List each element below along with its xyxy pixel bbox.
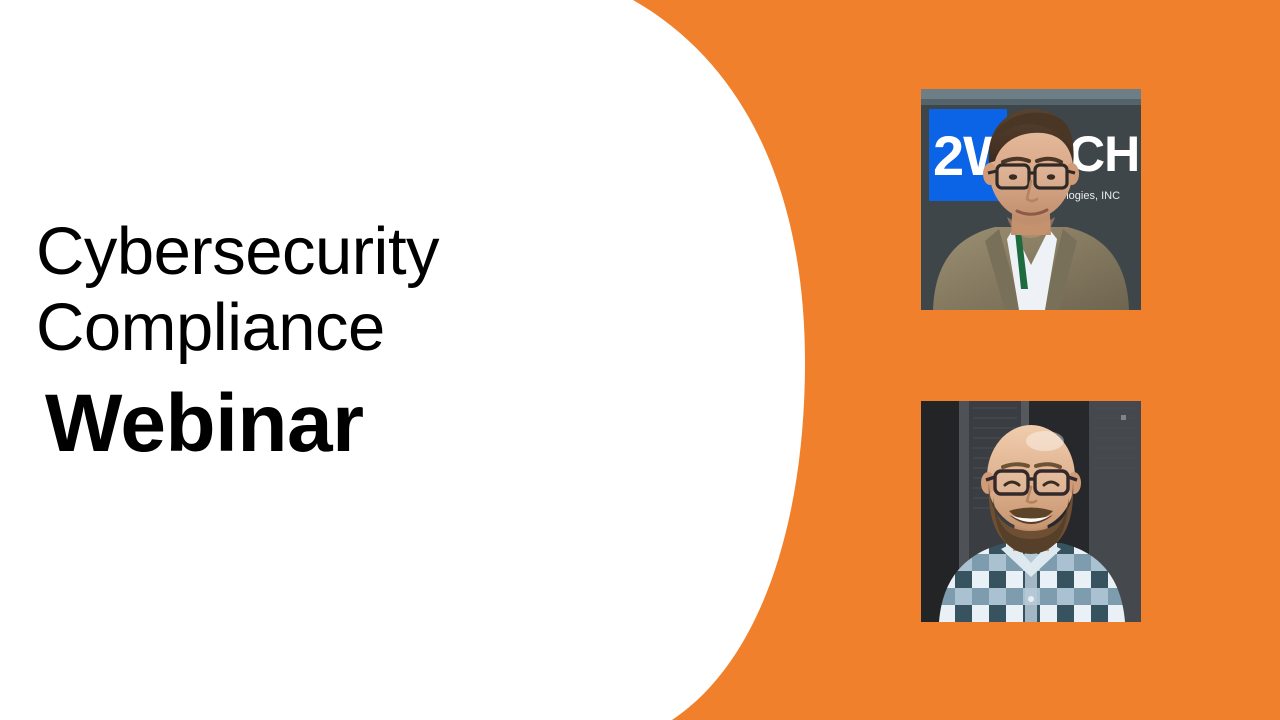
speaker-photo-bottom	[921, 401, 1141, 622]
title-line-2: Compliance	[36, 290, 576, 366]
speaker-photo-top: 2W CH nologies, INC	[921, 89, 1141, 310]
title-emphasis-webinar: Webinar	[45, 378, 576, 470]
speaker-photo-bottom-image	[921, 401, 1141, 622]
speaker-photo-top-image: 2W CH nologies, INC	[921, 89, 1141, 310]
title-line-1: Cybersecurity	[36, 214, 576, 290]
page-title: Cybersecurity Compliance Webinar	[36, 214, 576, 470]
slide-canvas: Cybersecurity Compliance Webinar	[0, 0, 1280, 720]
svg-text:CH: CH	[1069, 126, 1139, 182]
